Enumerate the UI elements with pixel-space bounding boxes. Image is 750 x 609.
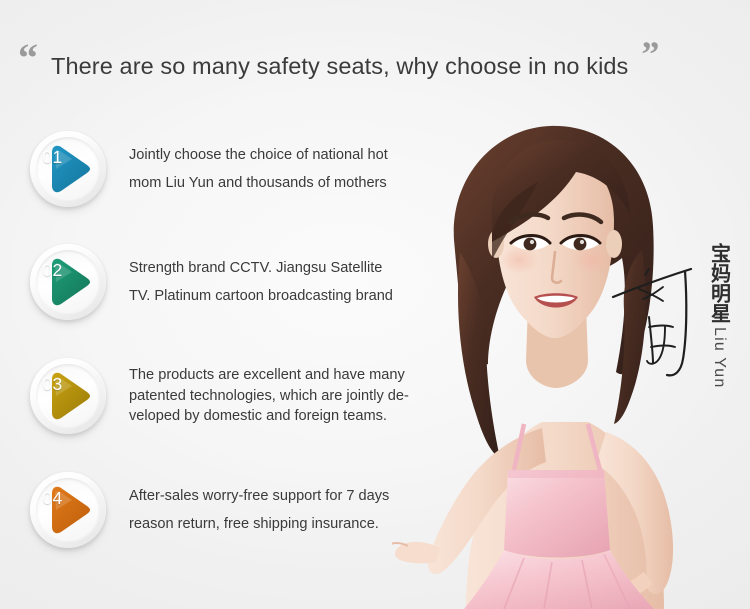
feature-text-line: Strength brand CCTV. Jiangsu Satellite [129,254,393,282]
feature-text-03: The products are excellent and have many… [129,365,409,427]
headline: “ There are so many safety seats, why ch… [18,40,638,92]
feature-text-line: patented technologies, which are jointly… [129,386,409,407]
feature-row-04: 04After-sales worry-free support for 7 d… [30,472,389,548]
feature-number: 03 [30,358,82,410]
feature-text-line: reason return, free shipping insurance. [129,510,389,538]
celebrity-name-en: Liu Yun [710,327,728,389]
feature-text-line: Jointly choose the choice of national ho… [129,141,388,169]
feature-badge-04[interactable]: 04 [30,472,106,548]
feature-text-line: TV. Platinum cartoon broadcasting brand [129,282,393,310]
quote-close-icon: ” [641,36,659,72]
feature-badge-02[interactable]: 02 [30,244,106,320]
feature-row-01: 01Jointly choose the choice of national … [30,131,388,207]
feature-text-line: After-sales worry-free support for 7 day… [129,482,389,510]
feature-text-line: veloped by domestic and foreign teams. [129,406,409,427]
feature-row-02: 02Strength brand CCTV. Jiangsu Satellite… [30,244,393,320]
headline-text: There are so many safety seats, why choo… [51,53,628,80]
feature-text-01: Jointly choose the choice of national ho… [129,141,388,197]
feature-badge-01[interactable]: 01 [30,131,106,207]
promo-banner: “ There are so many safety seats, why ch… [0,0,750,609]
feature-text-line: The products are excellent and have many [129,365,409,386]
feature-number: 01 [30,131,82,183]
feature-text-02: Strength brand CCTV. Jiangsu SatelliteTV… [129,254,393,310]
feature-number: 02 [30,244,82,296]
feature-text-line: mom Liu Yun and thousands of mothers [129,169,388,197]
quote-open-icon: “ [18,38,38,78]
model-photo [392,92,722,609]
feature-text-04: After-sales worry-free support for 7 day… [129,482,389,538]
feature-badge-03[interactable]: 03 [30,358,106,434]
feature-number: 04 [30,472,82,524]
celebrity-label: 宝妈明星 Liu Yun [701,243,737,389]
celebrity-name-cn: 宝妈明星 [707,243,732,323]
feature-row-03: 03The products are excellent and have ma… [30,358,409,434]
